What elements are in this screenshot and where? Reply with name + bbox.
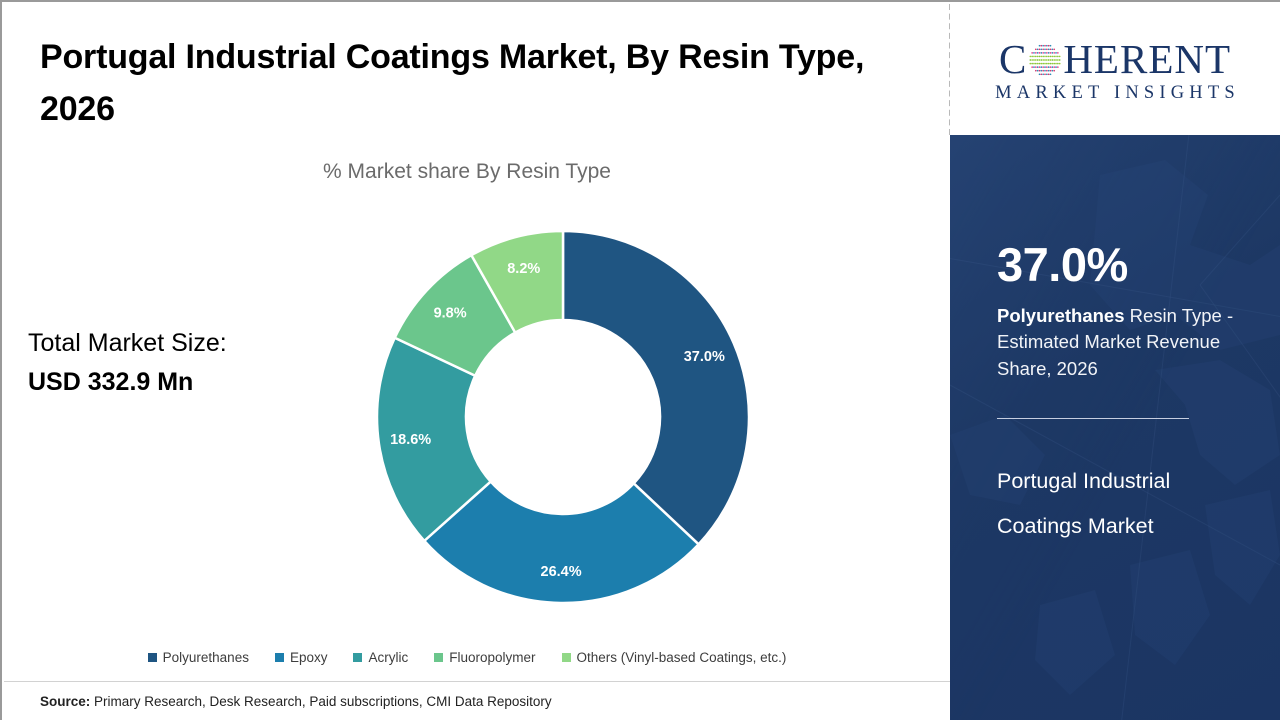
source-label: Source: [40,694,90,709]
brand-logo: C HERENT MARKET INSIGHTS [950,4,1280,135]
legend-item[interactable]: Acrylic [353,650,408,665]
donut-slice-label: 8.2% [507,261,540,277]
legend-swatch [562,653,571,662]
donut-slice-label: 26.4% [541,564,582,580]
donut-slice-label: 9.8% [434,305,467,321]
donut-slice-group [377,231,749,603]
total-market-size-value: USD 332.9 Mn [28,363,328,402]
stat-desc-highlight: Polyurethanes [997,305,1125,326]
logo-wordmark: C HERENT [999,39,1231,80]
legend-item[interactable]: Epoxy [275,650,328,665]
legend-label: Epoxy [290,650,328,665]
logo-wordmark-rest: HERENT [1063,39,1231,80]
legend-swatch [275,653,284,662]
donut-slice-label: 18.6% [390,432,431,448]
chart-legend: PolyurethanesEpoxyAcrylicFluoropolymerOt… [2,650,932,665]
donut-slice [563,231,749,544]
donut-slice-label: 37.0% [684,349,725,365]
stat-panel-content: 37.0% Polyurethanes Resin Type - Estimat… [997,135,1280,549]
source-divider [4,681,950,682]
logo-letter-c: C [999,39,1027,80]
infographic-frame: Portugal Industrial Coatings Market, By … [0,0,1280,720]
logo-tagline: MARKET INSIGHTS [990,83,1240,104]
dotted-globe-icon [1028,43,1062,77]
legend-item[interactable]: Polyurethanes [148,650,249,665]
panel-market-name: Portugal Industrial Coatings Market [997,459,1247,549]
total-market-size-block: Total Market Size: USD 332.9 Mn [28,324,328,402]
donut-chart: 37.0%26.4%18.6%9.8%8.2% [377,231,749,603]
headline-stat-value: 37.0% [997,241,1280,288]
legend-swatch [434,653,443,662]
legend-item[interactable]: Fluoropolymer [434,650,535,665]
total-market-size-label: Total Market Size: [28,324,328,363]
legend-swatch [148,653,157,662]
source-text: Primary Research, Desk Research, Paid su… [90,694,551,709]
logo-lockup: C HERENT MARKET INSIGHTS [990,35,1240,104]
legend-label: Fluoropolymer [449,650,535,665]
headline-stat-description: Polyurethanes Resin Type - Estimated Mar… [997,303,1259,382]
stat-panel: 37.0% Polyurethanes Resin Type - Estimat… [950,135,1280,720]
legend-label: Others (Vinyl-based Coatings, etc.) [577,650,787,665]
chart-subtitle: % Market share By Resin Type [2,160,932,184]
legend-swatch [353,653,362,662]
right-side-panel: C HERENT MARKET INSIGHTS [950,2,1280,722]
source-line: Source: Primary Research, Desk Research,… [40,694,552,709]
panel-horizontal-rule [997,418,1189,419]
legend-label: Acrylic [368,650,408,665]
donut-chart-svg: 37.0%26.4%18.6%9.8%8.2% [377,231,749,603]
legend-label: Polyurethanes [163,650,249,665]
left-content-pane: Portugal Industrial Coatings Market, By … [2,2,950,722]
page-title: Portugal Industrial Coatings Market, By … [40,32,870,135]
legend-item[interactable]: Others (Vinyl-based Coatings, etc.) [562,650,787,665]
